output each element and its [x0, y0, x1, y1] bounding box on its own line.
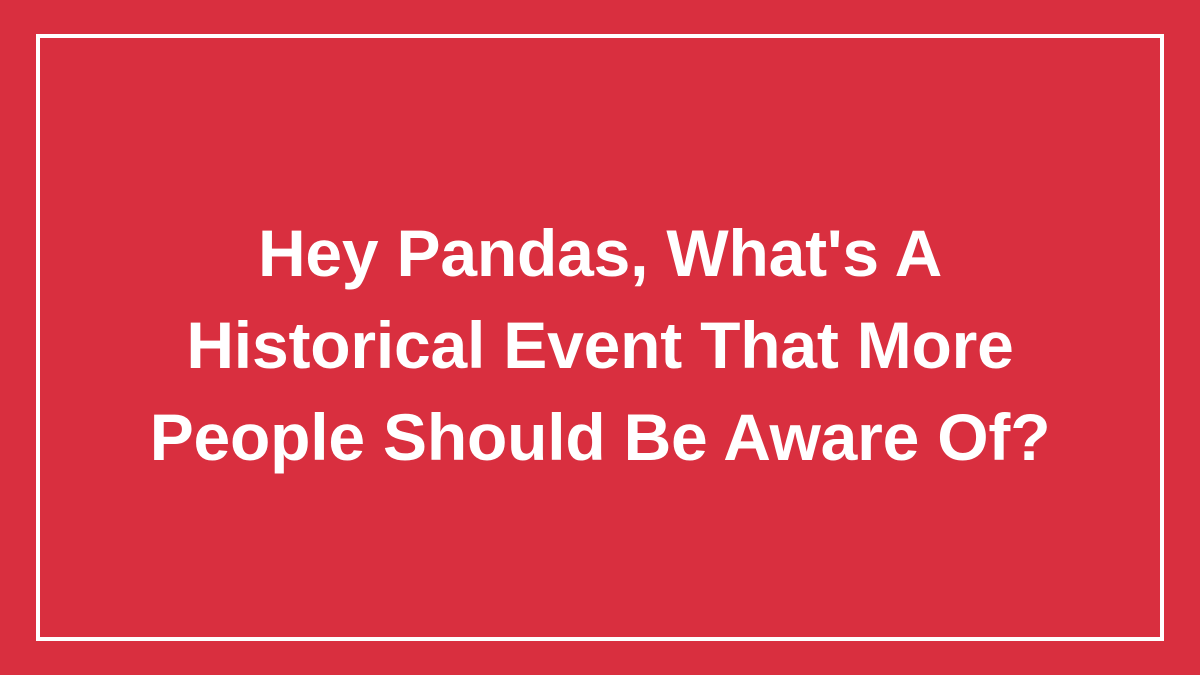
poster-canvas: Hey Pandas, What's A Historical Event Th… [0, 0, 1200, 675]
headline-line-3: People Should Be Aware Of? [90, 391, 1110, 483]
headline-block: Hey Pandas, What's A Historical Event Th… [0, 0, 1200, 675]
headline-line-1: Hey Pandas, What's A [90, 207, 1110, 299]
headline-line-2: Historical Event That More [90, 299, 1110, 391]
